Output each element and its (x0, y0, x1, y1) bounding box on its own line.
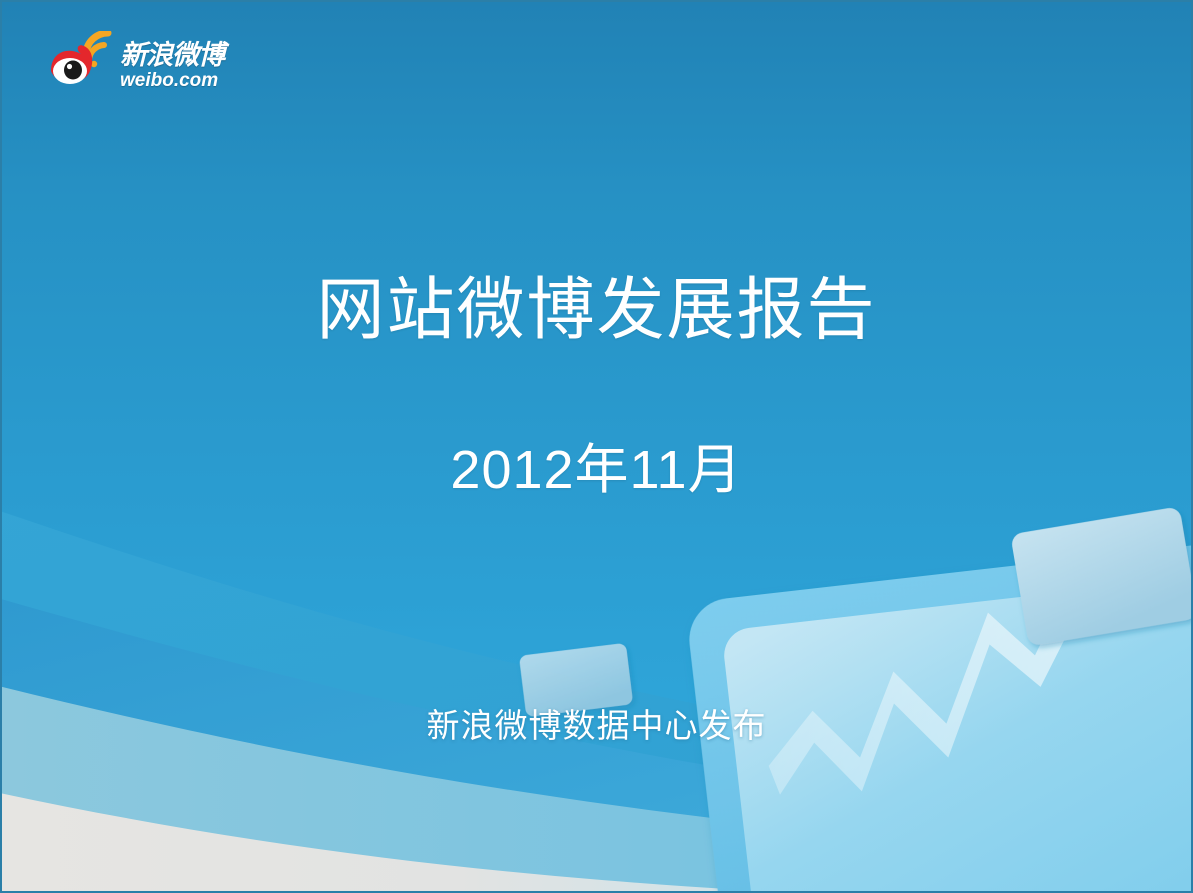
upward-trend-arrow (749, 554, 1125, 802)
headline-block: 网站微博发展报告 2012年11月 (2, 274, 1191, 501)
weibo-eye-icon (44, 31, 114, 95)
weibo-logo: 新浪微博 weibo.com (44, 28, 244, 98)
tablet-graphic (680, 497, 1191, 891)
tablet-clip (1010, 506, 1191, 646)
presentation-title-slide: 新浪微博 weibo.com 网站微博发展报告 2012年11月 新浪微博数据中… (0, 0, 1193, 893)
weibo-logo-text: 新浪微博 weibo.com (120, 36, 224, 90)
page-title: 网站微博发展报告 (2, 274, 1191, 347)
weibo-logo-name-cn: 新浪微博 (120, 42, 224, 69)
eye-pupil (64, 61, 82, 80)
swoosh-pale (2, 793, 759, 891)
weibo-logo-domain: weibo.com (120, 71, 224, 90)
publisher-credit: 新浪微博数据中心发布 (2, 699, 1191, 747)
eye-highlight (67, 64, 72, 69)
report-date: 2012年11月 (2, 441, 1191, 500)
